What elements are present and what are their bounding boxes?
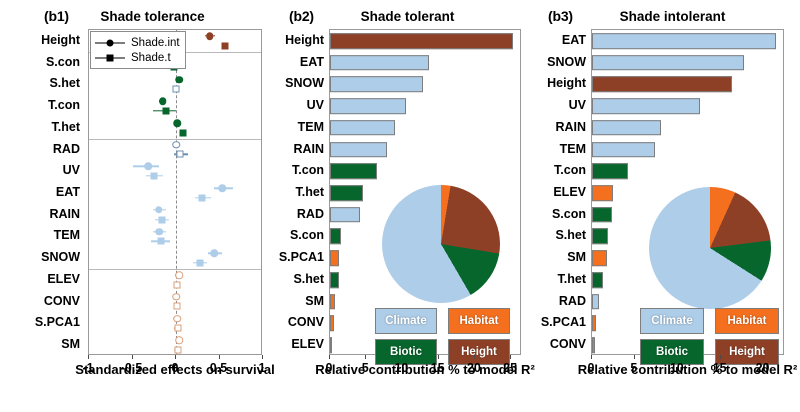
pie-legend-key-climate: Climate [375,308,437,334]
data-point-shade-int-uv[interactable] [144,163,152,171]
y-axis-label-rain: RAIN [265,142,324,156]
bar-tem[interactable] [330,120,395,136]
pie-legend-key-habitat: Habitat [448,308,510,334]
bar-t-het[interactable] [330,185,363,201]
bar-rain[interactable] [330,142,387,158]
bar-conv[interactable] [330,316,334,332]
y-axis-label-tem: TEM [0,228,80,242]
y-axis-label-rad: RAD [530,294,586,308]
y-axis-label-rad: RAD [265,207,324,221]
data-point-shade-t-conv[interactable] [174,303,181,310]
x-axis-tick [591,355,592,359]
y-axis-label-rad: RAD [0,142,80,156]
data-point-shade-int-eat[interactable] [218,184,226,192]
figure-root: (b1) Shade tolerance HeightS.conS.hetT.c… [0,0,800,412]
bar-rad[interactable] [330,207,360,223]
bar-conv[interactable] [592,337,595,353]
legend-symbol-circle [95,38,125,48]
data-point-shade-t-height[interactable] [222,42,229,49]
y-axis-label-sm: SM [0,337,80,351]
y-axis-label-eat: EAT [265,55,324,69]
legend-marker-square [107,54,114,61]
y-axis-label-t-het: T.het [265,185,324,199]
data-point-shade-int-tem[interactable] [155,228,163,236]
group-separator [89,269,261,270]
pie-chart-b3[interactable] [649,187,771,309]
panel-b3-title: Shade intolerant [580,9,765,24]
bar-snow[interactable] [330,77,423,93]
data-point-shade-t-snow[interactable] [196,259,203,266]
group-separator [89,139,261,140]
x-axis-tick [219,355,220,359]
bar-eat[interactable] [592,33,776,49]
y-axis-label-rain: RAIN [530,120,586,134]
y-axis-label-t-het: T.het [0,120,80,134]
legend-label: Shade.t [131,52,171,64]
bar-s-con[interactable] [330,229,341,245]
data-point-shade-t-eat[interactable] [199,194,206,201]
y-axis-label-conv: CONV [265,315,324,329]
data-point-shade-int-rad[interactable] [172,141,180,149]
y-axis-label-s-pca1: S.PCA1 [0,315,80,329]
x-axis-tick [88,355,89,359]
data-point-shade-t-rain[interactable] [158,216,165,223]
y-axis-label-tem: TEM [265,120,324,134]
y-axis-label-uv: UV [0,163,80,177]
x-axis-tick [175,355,176,359]
data-point-shade-int-s-het[interactable] [175,76,183,84]
bar-rad[interactable] [592,294,599,310]
x-axis-tick [132,355,133,359]
data-point-shade-t-t-con[interactable] [162,107,169,114]
x-axis-tick [720,355,721,359]
panel-b3-tag: (b3) [548,8,573,24]
data-point-shade-t-tem[interactable] [158,238,165,245]
data-point-shade-int-elev[interactable] [175,271,183,279]
panel-b1-title: Shade tolerance [70,9,235,24]
y-axis-label-sm: SM [530,250,586,264]
data-point-shade-t-rad[interactable] [176,151,183,158]
legend-marker-circle [107,39,114,46]
data-point-shade-int-t-con[interactable] [159,98,167,106]
data-point-shade-t-sm[interactable] [174,346,181,353]
bar-rain[interactable] [592,120,661,136]
bar-sm[interactable] [592,250,607,266]
data-point-shade-int-t-het[interactable] [174,119,182,127]
bar-t-con[interactable] [592,163,628,179]
bar-tem[interactable] [592,142,655,158]
y-axis-label-s-con: S.con [0,55,80,69]
y-axis-label-elev: ELEV [0,272,80,286]
data-point-shade-t-elev[interactable] [174,281,181,288]
y-axis-label-uv: UV [265,98,324,112]
bar-height[interactable] [330,33,513,49]
bar-uv[interactable] [330,98,406,114]
bar-s-pca1[interactable] [592,316,596,332]
data-point-shade-int-height[interactable] [206,32,214,40]
y-axis-label-conv: CONV [0,294,80,308]
y-axis-label-height: Height [530,76,586,90]
panel-b3-x-axis-title: Relative contribution % to model R² [531,362,800,377]
data-point-shade-t-uv[interactable] [150,173,157,180]
panel-b2: (b2) Shade tolerant ClimateHabitatBiotic… [265,0,530,412]
y-axis-label-t-het: T.het [530,272,586,286]
x-axis-tick [634,355,635,359]
data-point-shade-int-s-pca1[interactable] [174,315,182,323]
x-axis-tick [365,355,366,359]
y-axis-label-t-con: T.con [265,163,324,177]
y-axis-label-s-pca1: S.PCA1 [265,250,324,264]
y-axis-label-elev: ELEV [530,185,586,199]
y-axis-label-uv: UV [530,98,586,112]
pie-legend-key-climate: Climate [640,308,704,334]
y-axis-label-snow: SNOW [265,76,324,90]
x-axis-tick [474,355,475,359]
y-axis-label-t-con: T.con [0,98,80,112]
y-axis-label-elev: ELEV [265,337,324,351]
y-axis-label-eat: EAT [530,33,586,47]
x-axis-tick [763,355,764,359]
bar-elev[interactable] [330,337,332,353]
x-axis-tick [262,355,263,359]
panel-b1-plot-area [88,29,262,355]
y-axis-label-s-con: S.con [530,207,586,221]
y-axis-label-s-het: S.het [0,76,80,90]
y-axis-label-snow: SNOW [0,250,80,264]
y-axis-label-s-het: S.het [530,228,586,242]
bar-s-het[interactable] [330,272,339,288]
x-axis-tick [329,355,330,359]
y-axis-label-t-con: T.con [530,163,586,177]
y-axis-label-s-pca1: S.PCA1 [530,315,586,329]
x-axis-tick [401,355,402,359]
panel-b2-title: Shade tolerant [320,9,495,24]
bar-elev[interactable] [592,185,613,201]
y-axis-label-rain: RAIN [0,207,80,221]
y-axis-label-tem: TEM [530,142,586,156]
bar-s-pca1[interactable] [330,250,339,266]
x-axis-tick [438,355,439,359]
bar-uv[interactable] [592,98,700,114]
y-axis-label-s-het: S.het [265,272,324,286]
bar-s-con[interactable] [592,207,612,223]
panel-b3-plot-area: ClimateHabitatBioticHeight [591,29,784,355]
x-axis-tick [510,355,511,359]
pie-chart-b2[interactable] [382,185,500,303]
panel-b2-tag: (b2) [289,8,314,24]
data-point-shade-t-t-het[interactable] [180,129,187,136]
y-axis-label-eat: EAT [0,185,80,199]
legend-label: Shade.int [131,37,180,49]
data-point-shade-int-snow[interactable] [211,250,219,258]
bar-snow[interactable] [592,55,744,71]
legend-row: Shade.t [95,50,180,65]
data-point-shade-int-rain[interactable] [155,206,163,214]
panel-b1: (b1) Shade tolerance HeightS.conS.hetT.c… [0,0,265,412]
data-point-shade-int-sm[interactable] [175,337,183,345]
y-axis-label-s-con: S.con [265,228,324,242]
y-axis-label-conv: CONV [530,337,586,351]
y-axis-label-snow: SNOW [530,55,586,69]
y-axis-label-height: Height [265,33,324,47]
bar-s-het[interactable] [592,229,608,245]
panel-b1-tag: (b1) [44,8,69,24]
pie-legend-key-habitat: Habitat [715,308,779,334]
data-point-shade-t-s-pca1[interactable] [174,325,181,332]
bar-eat[interactable] [330,55,429,71]
panel-b3: (b3) Shade intolerant ClimateHabitatBiot… [530,0,800,412]
data-point-shade-int-conv[interactable] [172,293,180,301]
y-axis-label-sm: SM [265,294,324,308]
panel-b2-plot-area: ClimateHabitatBioticHeight [329,29,521,355]
y-axis-label-height: Height [0,33,80,47]
data-point-shade-t-s-het[interactable] [173,86,180,93]
bar-sm[interactable] [330,294,335,310]
bar-height[interactable] [592,77,732,93]
legend-row: Shade.int [95,35,180,50]
bar-t-con[interactable] [330,163,377,179]
panel-b1-legend: Shade.intShade.t [90,31,186,69]
bar-t-het[interactable] [592,272,603,288]
x-axis-tick [677,355,678,359]
legend-symbol-square [95,53,125,63]
